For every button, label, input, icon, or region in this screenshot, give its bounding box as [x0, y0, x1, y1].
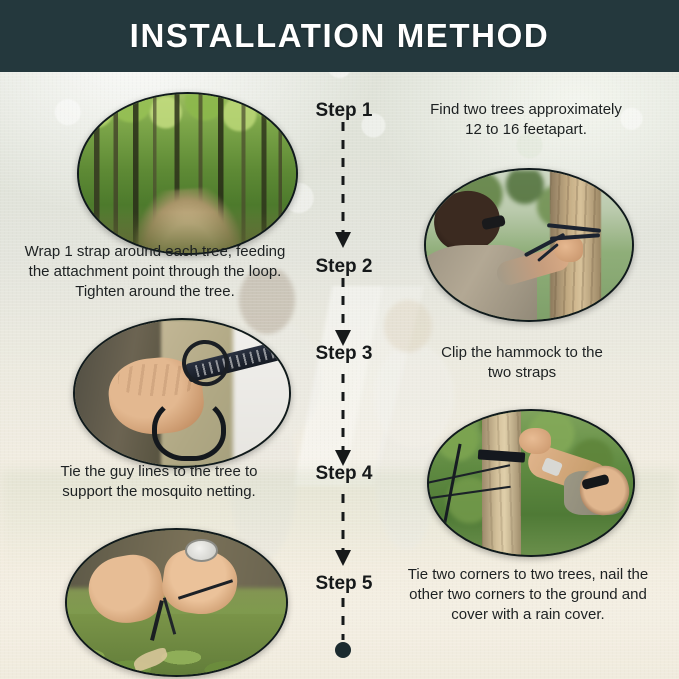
page-title: INSTALLATION METHOD [130, 17, 550, 55]
forest-with-trees-photo [77, 92, 298, 255]
guy-line-tied-to-tree-photo [427, 409, 635, 557]
strap-around-tree-photo [424, 168, 634, 322]
photo-5-content [67, 530, 286, 675]
ground-stake-photo [65, 528, 288, 677]
step-label-4: Step 4 [304, 463, 384, 485]
header-banner: INSTALLATION METHOD [0, 0, 679, 72]
photo-3-content [75, 320, 289, 466]
step-label-1: Step 1 [304, 100, 384, 122]
step-label-2: Step 2 [304, 256, 384, 278]
step-text-2: Wrap 1 strap around each tree, feeding t… [10, 242, 300, 302]
step-text-1: Find two trees approximately 12 to 16 fe… [386, 100, 666, 140]
photo-4-content [429, 411, 633, 555]
step-text-5: Tie two corners to two trees, nail the o… [386, 565, 670, 625]
step-text-4: Tie the guy lines to the tree to support… [18, 462, 300, 502]
step-text-3: Clip the hammock to the two straps [386, 343, 658, 383]
step-label-5: Step 5 [304, 573, 384, 595]
photo-1-content [79, 94, 296, 253]
infographic-page: INSTALLATION METHOD Step 1 Find two tree… [0, 0, 679, 679]
carabiner-clip-photo [73, 318, 291, 468]
step-label-3: Step 3 [304, 343, 384, 365]
photo-2-content [426, 170, 632, 320]
